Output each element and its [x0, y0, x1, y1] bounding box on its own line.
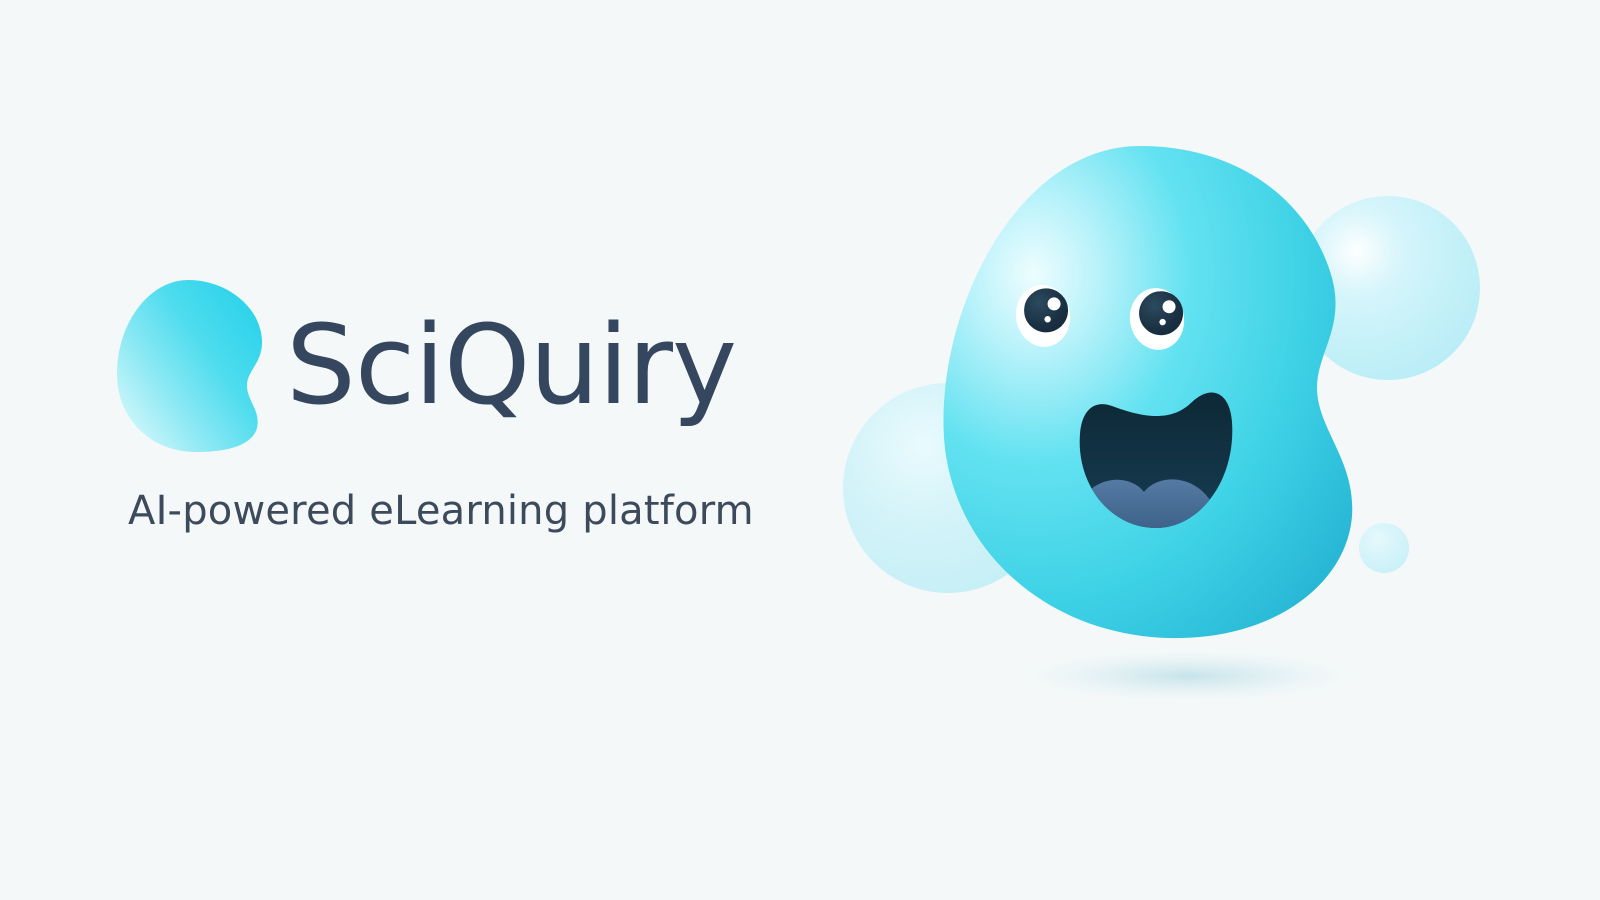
brand-lockup: SciQuiry — [110, 270, 810, 460]
logo-splash-screen: SciQuiry AI-powered eLearning platform — [0, 0, 1600, 900]
mascot-body — [943, 146, 1352, 638]
blob-logo-mark-icon — [114, 278, 264, 453]
mascot-illustration — [840, 120, 1520, 740]
mascot-shadow — [1020, 650, 1356, 702]
bubble-small-right-icon — [1359, 523, 1409, 573]
wordmark: SciQuiry — [286, 310, 736, 420]
brand-lockup-block: SciQuiry AI-powered eLearning platform — [110, 270, 810, 570]
tagline: AI-powered eLearning platform — [128, 488, 754, 534]
blob-mascot-icon — [840, 120, 1520, 740]
